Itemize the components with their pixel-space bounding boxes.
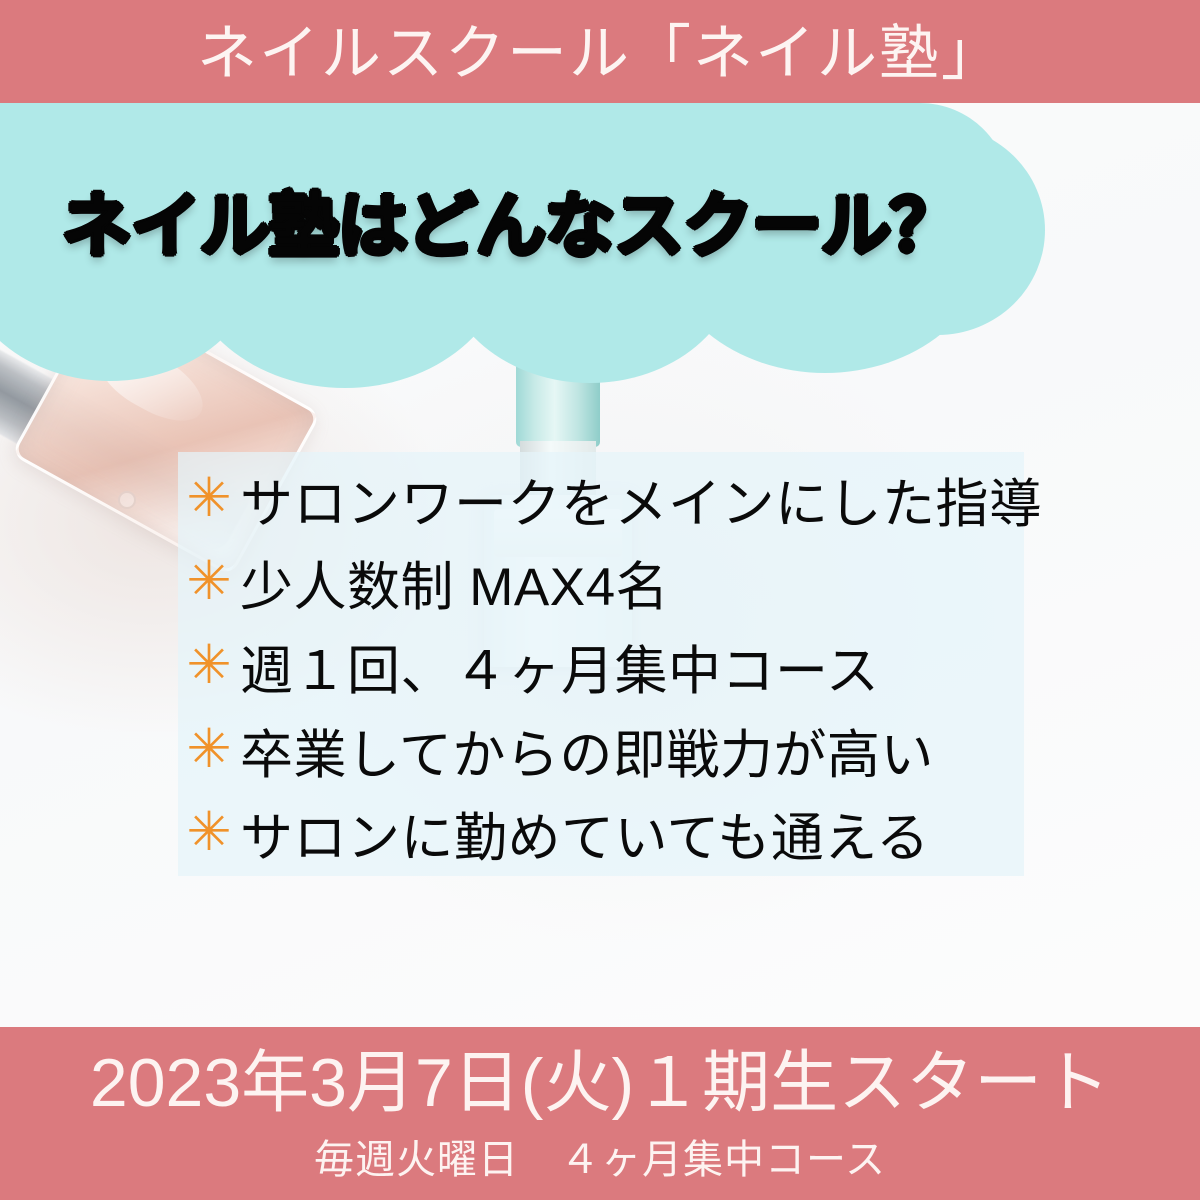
sparkle-icon: ✳ [178,805,240,859]
list-item-label: 卒業してからの即戦力が高い [240,713,934,789]
sparkle-icon: ✳ [178,638,240,692]
list-item-label: 週１回、４ヶ月集中コース [240,629,879,705]
sparkle-icon: ✳ [178,554,240,608]
feature-list: ✳ サロンワークをメインにした指導 ✳ 少人数制 MAX4名 ✳ 週１回、４ヶ月… [178,452,1048,876]
poster-canvas: ネイル塾はどんなスクール？ ネイルスクール「ネイル塾」 ✳ サロンワークをメイン… [0,0,1200,1200]
list-item-label: 少人数制 MAX4名 [240,545,669,621]
top-banner: ネイルスクール「ネイル塾」 [0,0,1200,103]
bottom-banner: 2023年3月7日(火)１期生スタート 毎週火曜日 ４ヶ月集中コース [0,1027,1200,1200]
list-item: ✳ 週１回、４ヶ月集中コース [178,625,1048,709]
sparkle-icon: ✳ [178,471,240,525]
list-item: ✳ サロンワークをメインにした指導 [178,458,1048,542]
polish-bottle-bubble [118,491,136,509]
sparkle-icon: ✳ [178,722,240,776]
list-item: ✳ 卒業してからの即戦力が高い [178,709,1048,793]
list-item-label: サロンに勤めていても通える [240,796,930,872]
school-name-title: ネイルスクール「ネイル塾」 [197,5,1003,92]
list-item: ✳ 少人数制 MAX4名 [178,542,1048,626]
schedule-subtext: 毎週火曜日 ４ヶ月集中コース [314,1127,886,1185]
list-item: ✳ サロンに勤めていても通える [178,792,1048,876]
hero-headline: ネイル塾はどんなスクール？ [62,170,962,271]
start-date-headline: 2023年3月7日(火)１期生スタート [90,1048,1110,1119]
list-item-label: サロンワークをメインにした指導 [240,462,1043,538]
